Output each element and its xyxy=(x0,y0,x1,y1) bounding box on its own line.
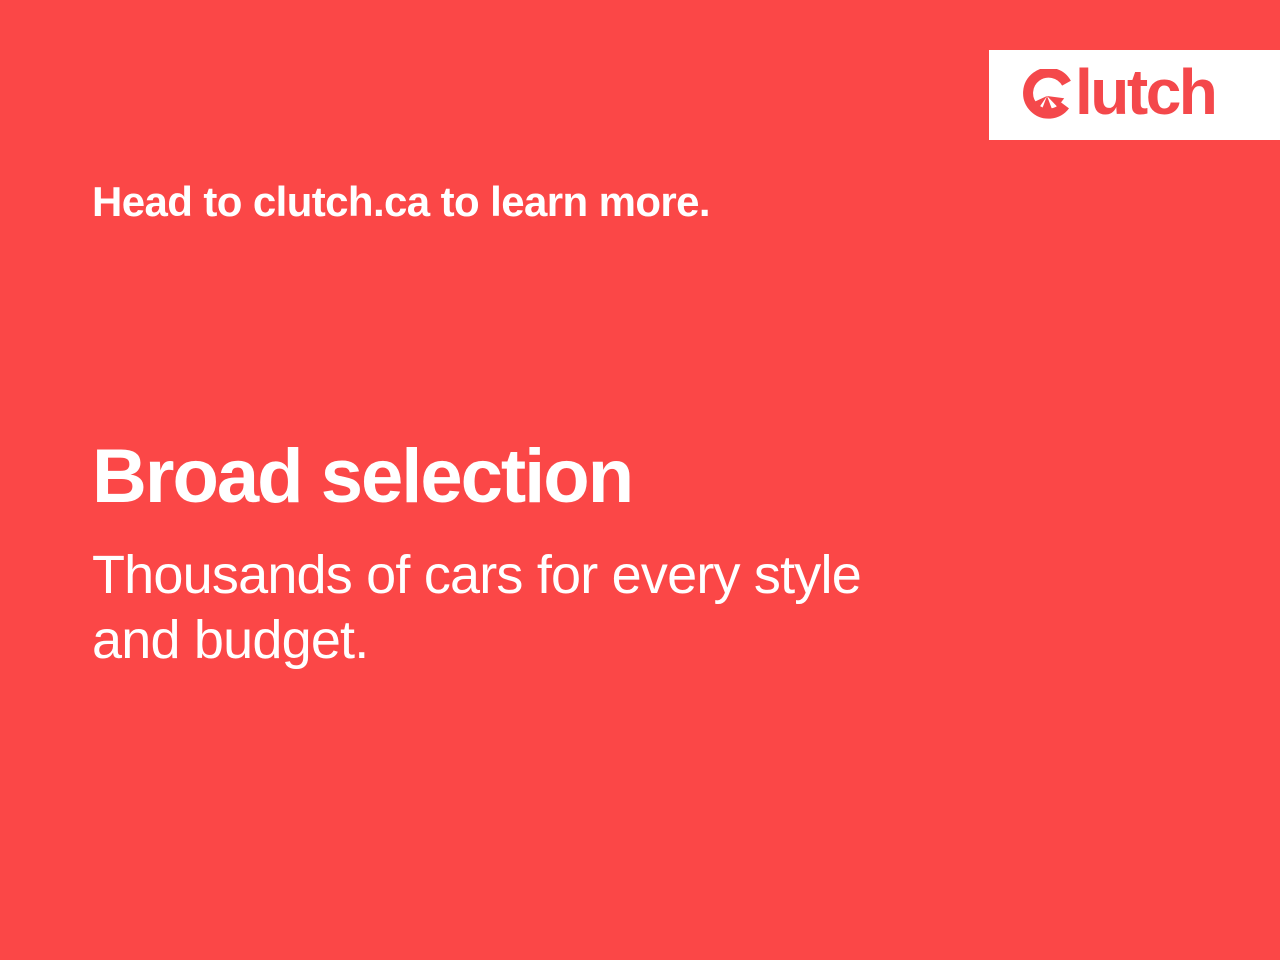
clutch-wordmark: lutch xyxy=(1075,60,1215,124)
headline: Broad selection xyxy=(92,437,632,517)
brand-logo-plate: lutch xyxy=(989,50,1280,140)
slide-canvas: { "slide": { "background_color": "#FB474… xyxy=(0,0,1280,960)
subheadline: Thousands of cars for every style and bu… xyxy=(92,543,1052,673)
clutch-c-wheel-icon xyxy=(1021,69,1073,121)
kicker-text: Head to clutch.ca to learn more. xyxy=(92,178,710,226)
clutch-logo: lutch xyxy=(1021,63,1215,127)
subheadline-line: and budget. xyxy=(92,608,1052,673)
subheadline-line: Thousands of cars for every style xyxy=(92,543,1052,608)
